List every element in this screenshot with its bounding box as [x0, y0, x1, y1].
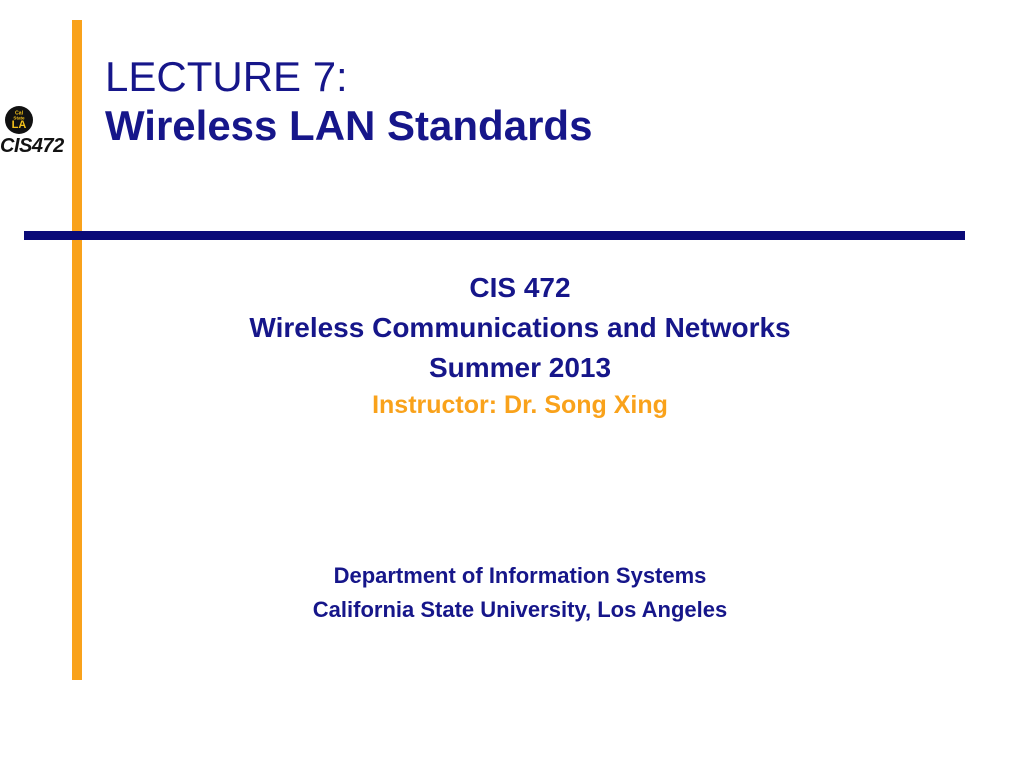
svg-text:LA: LA	[12, 119, 27, 131]
slide-title: LECTURE 7: Wireless LAN Standards	[105, 53, 985, 150]
affiliation-block: Department of Information Systems Califo…	[110, 559, 930, 627]
institution-logo-block: Cal State LA CIS472	[0, 105, 70, 156]
course-term: Summer 2013	[110, 348, 930, 388]
vertical-accent-bar	[72, 20, 82, 680]
course-info-block: CIS 472 Wireless Communications and Netw…	[110, 268, 930, 422]
instructor-name: Instructor: Dr. Song Xing	[110, 389, 930, 422]
cal-state-la-seal-icon: Cal State LA	[4, 105, 34, 135]
university-name: California State University, Los Angeles	[110, 593, 930, 627]
horizontal-divider-rule	[24, 231, 965, 240]
course-code-logo-caption: CIS472	[0, 136, 70, 156]
title-topic: Wireless LAN Standards	[105, 102, 985, 151]
title-slide: Cal State LA CIS472 LECTURE 7: Wireless …	[0, 0, 1024, 768]
course-number: CIS 472	[110, 268, 930, 308]
title-lecture-number: LECTURE 7:	[105, 53, 985, 102]
course-title: Wireless Communications and Networks	[110, 308, 930, 348]
department-name: Department of Information Systems	[110, 559, 930, 593]
